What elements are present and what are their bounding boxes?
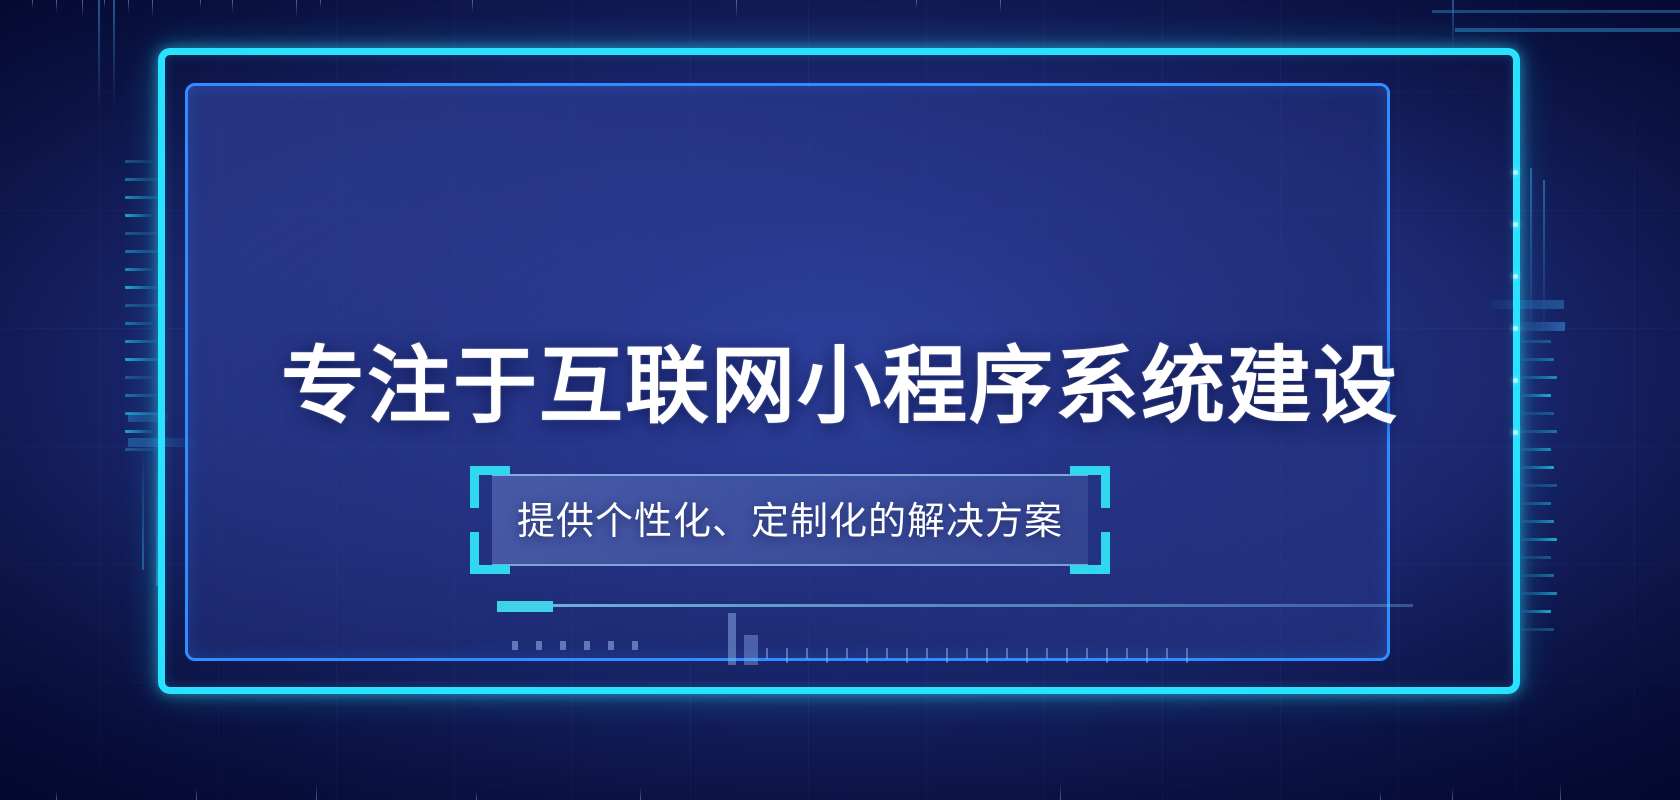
- ladder-right-mark: [1521, 520, 1554, 523]
- tick-row-mark: [906, 648, 908, 663]
- tick-row-mark: [866, 648, 868, 663]
- ladder-left-mark: [125, 160, 153, 163]
- ladder-right-mark: [1521, 574, 1554, 577]
- page-title: 专注于互联网小程序系统建设: [0, 342, 1680, 431]
- hairline-decor: [113, 0, 115, 104]
- tick-row-mark: [1046, 648, 1048, 659]
- tick-row-mark: [1126, 648, 1128, 659]
- ladder-left-mark: [125, 268, 153, 271]
- hairline-decor: [1452, 0, 1454, 46]
- bottom-ticks-mark: [196, 787, 197, 800]
- top-ticks-mark: [916, 0, 917, 8]
- ladder-right-mark: [1521, 448, 1551, 451]
- ladder-left-mark: [125, 448, 157, 451]
- tick-row-mark: [826, 648, 828, 663]
- ladder-right-mark: [1521, 610, 1551, 613]
- bottom-edge-ticks: [0, 782, 1680, 800]
- tick-row-mark: [1106, 648, 1108, 663]
- tick-row-mark: [946, 648, 948, 663]
- bottom-bar-tall: [728, 613, 736, 665]
- frame-dots-mark: [1513, 326, 1518, 331]
- tick-row-mark: [846, 648, 848, 659]
- top-ticks-mark: [232, 0, 233, 13]
- ladder-right-mark: [1521, 556, 1551, 559]
- edge-line-decor: [1455, 28, 1680, 32]
- subtitle-bracket-box: 提供个性化、定制化的解决方案: [470, 466, 1110, 574]
- bottom-ticks-mark: [476, 791, 477, 800]
- ladder-left-mark: [125, 178, 157, 181]
- hairline-decor: [1543, 180, 1545, 336]
- frame-dots-mark: [1513, 170, 1518, 175]
- top-ticks-mark: [128, 0, 129, 13]
- top-ticks-mark: [32, 0, 33, 8]
- dot-row-mark: [584, 641, 590, 650]
- slab-decor: [1521, 322, 1565, 331]
- tick-row-mark: [1086, 648, 1088, 659]
- tick-row-mark: [886, 648, 888, 659]
- mini-bracket-decor: [497, 601, 553, 612]
- dot-row-mark: [560, 641, 566, 650]
- frame-dots-mark: [1513, 222, 1518, 227]
- top-ticks-mark: [320, 0, 321, 8]
- bottom-bar-short: [744, 635, 758, 665]
- hairline-decor: [142, 450, 144, 570]
- top-ticks-mark: [1000, 0, 1001, 13]
- dot-row-mark: [608, 641, 614, 650]
- ladder-right-mark: [1521, 502, 1551, 505]
- bottom-ticks-mark: [316, 783, 317, 800]
- tick-row-mark: [806, 648, 808, 659]
- hero-banner: 专注于互联网小程序系统建设 提供个性化、定制化的解决方案: [0, 0, 1680, 800]
- dot-row-mark: [512, 641, 518, 650]
- tick-row-mark: [1026, 648, 1028, 663]
- top-ticks-mark: [200, 0, 201, 8]
- ladder-left-mark: [125, 286, 157, 289]
- ladder-left-mark: [125, 322, 153, 325]
- ladder-left-mark: [125, 250, 161, 253]
- ladder-right-mark: [1521, 628, 1554, 631]
- top-ticks-mark: [296, 0, 297, 18]
- top-ticks-mark: [736, 0, 737, 18]
- tick-row-mark: [1066, 648, 1068, 663]
- top-ticks-mark: [104, 0, 105, 8]
- ladder-right-mark: [1521, 484, 1557, 487]
- tick-row-mark: [986, 648, 988, 663]
- ladder-right-mark: [1521, 538, 1557, 541]
- hairline-decor: [98, 0, 100, 110]
- top-ticks-mark: [56, 0, 57, 13]
- tick-row-mark: [786, 648, 788, 663]
- bottom-ticks-mark: [1452, 787, 1453, 800]
- bottom-ticks-mark: [1560, 783, 1561, 800]
- top-ticks-mark: [472, 0, 473, 13]
- bottom-ticks-mark: [1060, 783, 1061, 800]
- ladder-left-mark: [125, 214, 153, 217]
- tick-row-mark: [926, 648, 928, 659]
- frame-dots-mark: [1513, 274, 1518, 279]
- ladder-right-mark: [1521, 466, 1554, 469]
- bottom-ticks-mark: [1380, 791, 1381, 800]
- bottom-ticks-mark: [640, 787, 641, 800]
- bottom-ticks-mark: [56, 791, 57, 800]
- edge-line-decor: [1432, 10, 1680, 13]
- tick-row-mark: [1166, 648, 1168, 659]
- ladder-right-mark: [1521, 592, 1557, 595]
- tick-row-mark: [1146, 648, 1148, 663]
- tick-row-mark: [1006, 648, 1008, 659]
- tick-row-mark: [966, 648, 968, 659]
- tick-row-mark: [766, 648, 768, 659]
- dot-row-mark: [632, 641, 638, 650]
- ladder-left-mark: [125, 304, 161, 307]
- top-edge-ticks: [0, 0, 1680, 16]
- mini-separator-line: [553, 604, 1413, 607]
- ladder-left-mark: [125, 232, 157, 235]
- ladder-left-mark: [125, 196, 161, 199]
- page-subtitle: 提供个性化、定制化的解决方案: [470, 490, 1110, 545]
- tick-row-mark: [1186, 648, 1188, 663]
- top-ticks-mark: [82, 0, 83, 18]
- top-ticks-mark: [152, 0, 153, 18]
- dot-row-mark: [536, 641, 542, 650]
